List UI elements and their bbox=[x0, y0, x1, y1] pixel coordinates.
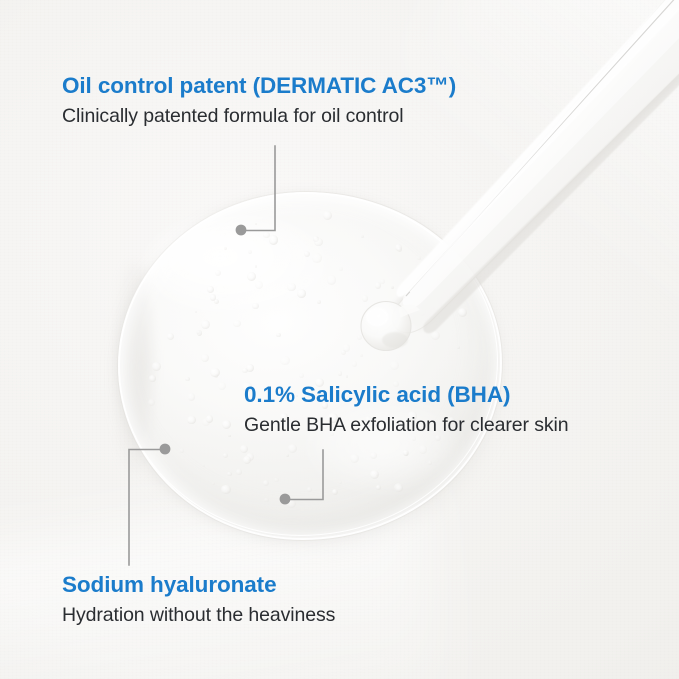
callout-salicylic-acid-subtitle: Gentle BHA exfoliation for clearer skin bbox=[244, 414, 569, 437]
callout-sodium-hyaluronate-title: Sodium hyaluronate bbox=[62, 572, 335, 599]
product-callout-image: Oil control patent (DERMATIC AC3™) Clini… bbox=[0, 0, 679, 679]
callout-salicylic-acid-title: 0.1% Salicylic acid (BHA) bbox=[244, 382, 569, 409]
callout-oil-control-title: Oil control patent (DERMATIC AC3™) bbox=[62, 73, 456, 100]
callout-sodium-hyaluronate-subtitle: Hydration without the heaviness bbox=[62, 604, 335, 627]
callout-oil-control-subtitle: Clinically patented formula for oil cont… bbox=[62, 105, 456, 128]
callout-salicylic-acid: 0.1% Salicylic acid (BHA) Gentle BHA exf… bbox=[244, 382, 569, 437]
callout-sodium-hyaluronate: Sodium hyaluronate Hydration without the… bbox=[62, 572, 335, 627]
callout-oil-control: Oil control patent (DERMATIC AC3™) Clini… bbox=[62, 73, 456, 128]
